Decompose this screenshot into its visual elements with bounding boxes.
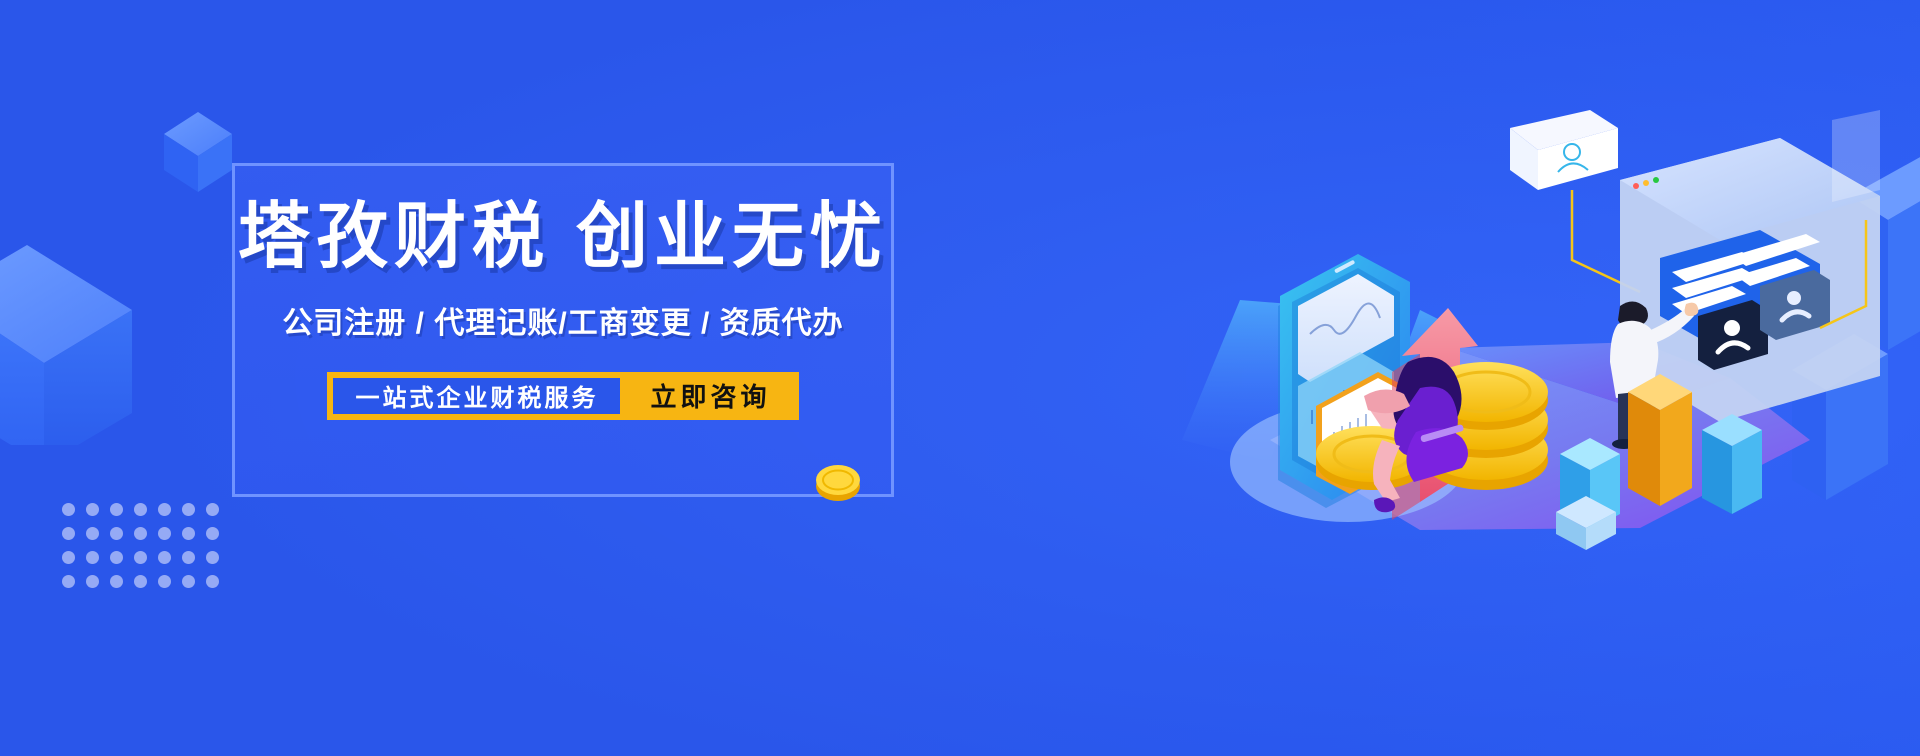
business-illustration — [1120, 110, 1880, 550]
isometric-cube-small-icon — [162, 108, 234, 196]
page-title: 塔孜财税 创业无忧 — [238, 200, 888, 276]
promo-banner: 塔孜财税 创业无忧 公司注册 / 代理记账/工商变更 / 资质代办 一站式企业财… — [0, 0, 1920, 756]
cta-row: 一站式企业财税服务 立即咨询 — [327, 372, 798, 420]
consult-now-button[interactable]: 立即咨询 — [624, 374, 796, 418]
services-subtitle: 公司注册 / 代理记账/工商变更 / 资质代办 — [282, 298, 843, 342]
cta-tag-label: 一站式企业财税服务 — [333, 378, 620, 414]
headline-panel: 塔孜财税 创业无忧 公司注册 / 代理记账/工商变更 / 资质代办 一站式企业财… — [232, 163, 894, 497]
dot-grid-decoration — [62, 503, 230, 599]
message-card — [1832, 110, 1880, 202]
profile-card — [1510, 110, 1618, 190]
isometric-cube-large-icon — [0, 235, 132, 445]
